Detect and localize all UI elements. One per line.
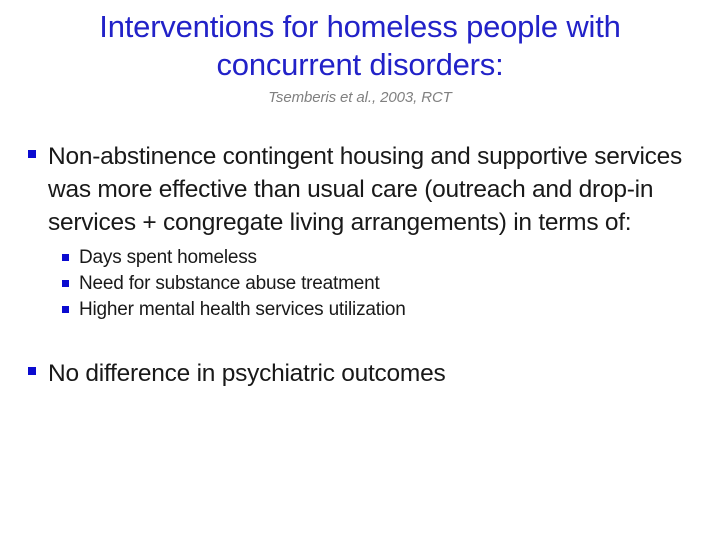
square-bullet-icon [28, 367, 36, 375]
title-block: Interventions for homeless people with c… [0, 8, 720, 107]
list-item: Higher mental health services utilizatio… [0, 297, 720, 323]
square-bullet-icon [62, 306, 69, 313]
square-bullet-icon [62, 280, 69, 287]
square-bullet-icon [62, 254, 69, 261]
page-title: Interventions for homeless people with c… [0, 8, 720, 84]
bullet-text: No difference in psychiatric outcomes [48, 357, 706, 390]
slide-body: Non-abstinence contingent housing and su… [0, 140, 720, 390]
slide-citation-subtitle: Tsemberis et al., 2003, RCT [0, 88, 720, 107]
list-item: Non-abstinence contingent housing and su… [0, 140, 720, 239]
list-item: Days spent homeless [0, 245, 720, 271]
presentation-slide: Interventions for homeless people with c… [0, 0, 720, 540]
bullet-text: Non-abstinence contingent housing and su… [48, 140, 706, 239]
square-bullet-icon [28, 150, 36, 158]
bullet-text: Days spent homeless [79, 245, 706, 271]
bullet-text: Need for substance abuse treatment [79, 271, 706, 297]
sub-bullet-list: Days spent homeless Need for substance a… [0, 245, 720, 323]
spacer [0, 323, 720, 357]
list-item: No difference in psychiatric outcomes [0, 357, 720, 390]
bullet-text: Higher mental health services utilizatio… [79, 297, 706, 323]
list-item: Need for substance abuse treatment [0, 271, 720, 297]
